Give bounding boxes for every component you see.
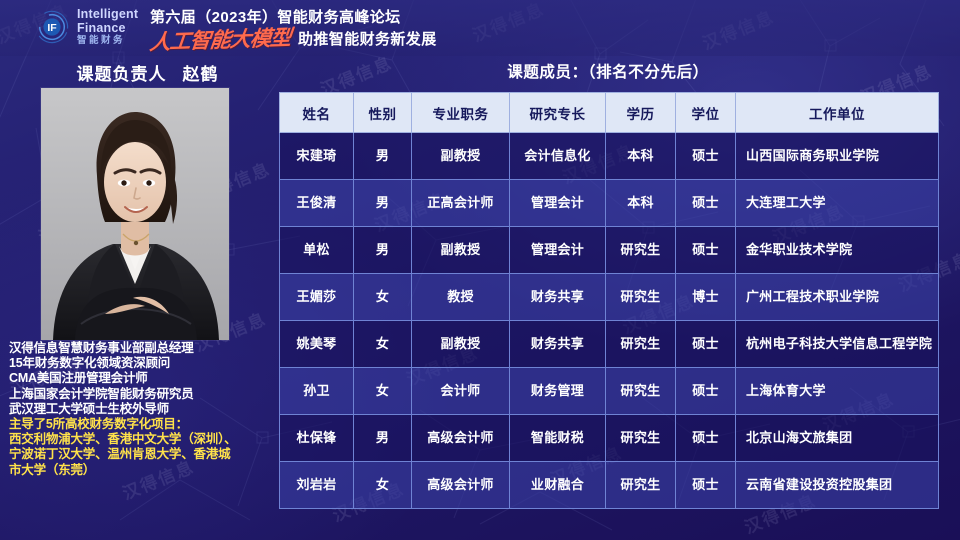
table-cell: 男: [354, 180, 412, 227]
table-cell: 管理会计: [510, 227, 606, 274]
table-cell: 孙卫: [280, 368, 354, 415]
bio-line: 宁波诺丁汉大学、温州肯恩大学、香港城: [9, 447, 261, 462]
table-cell: 上海体育大学: [736, 368, 939, 415]
leader-label: 课题负责人: [77, 65, 167, 84]
brand-logo: IF Intelligent Finance 智能财务: [34, 8, 138, 46]
table-row: 孙卫女会计师财务管理研究生硕士上海体育大学: [280, 368, 939, 415]
table-cell: 杜保锋: [280, 415, 354, 462]
table-cell: 财务管理: [510, 368, 606, 415]
column-header-3: 研究专长: [510, 93, 606, 133]
header-bar: IF Intelligent Finance 智能财务 第六届（2023年）智能…: [0, 0, 960, 56]
table-cell: 正高会计师: [412, 180, 510, 227]
members-table: 姓名性别专业职务研究专长学历学位工作单位 宋建琦男副教授会计信息化本科硕士山西国…: [279, 92, 939, 509]
table-cell: 王媚莎: [280, 274, 354, 321]
bio-line: CMA美国注册管理会计师: [9, 371, 261, 386]
table-header-row: 姓名性别专业职务研究专长学历学位工作单位: [280, 93, 939, 133]
table-cell: 研究生: [606, 368, 676, 415]
table-cell: 硕士: [676, 462, 736, 509]
table-cell: 女: [354, 462, 412, 509]
table-cell: 广州工程技术职业学院: [736, 274, 939, 321]
brand-name-line2: Finance: [77, 22, 138, 35]
table-cell: 会计师: [412, 368, 510, 415]
bio-line: 15年财务数字化领域资深顾问: [9, 356, 261, 371]
table-cell: 女: [354, 321, 412, 368]
column-header-0: 姓名: [280, 93, 354, 133]
svg-text:IF: IF: [47, 22, 57, 34]
column-header-6: 工作单位: [736, 93, 939, 133]
table-cell: 北京山海文旅集团: [736, 415, 939, 462]
table-cell: 智能财税: [510, 415, 606, 462]
table-cell: 副教授: [412, 227, 510, 274]
brand-logo-text: Intelligent Finance 智能财务: [77, 8, 138, 46]
bio-line: 武汉理工大学硕士生校外导师: [9, 402, 261, 417]
table-row: 单松男副教授管理会计研究生硕士金华职业技术学院: [280, 227, 939, 274]
table-cell: 硕士: [676, 180, 736, 227]
table-cell: 山西国际商务职业学院: [736, 133, 939, 180]
table-body: 宋建琦男副教授会计信息化本科硕士山西国际商务职业学院王俊清男正高会计师管理会计本…: [280, 133, 939, 509]
table-cell: 研究生: [606, 321, 676, 368]
table-cell: 研究生: [606, 274, 676, 321]
leader-photo: [41, 88, 229, 340]
table-cell: 高级会计师: [412, 462, 510, 509]
table-cell: 大连理工大学: [736, 180, 939, 227]
bio-line: 上海国家会计学院智能财务研究员: [9, 387, 261, 402]
event-title-line2: 助推智能财务新发展: [298, 30, 437, 50]
table-cell: 男: [354, 133, 412, 180]
event-title: 第六届（2023年）智能财务高峰论坛 人工智能大模型 助推智能财务新发展: [150, 8, 570, 50]
if-circle-icon: IF: [34, 9, 70, 45]
table-cell: 研究生: [606, 462, 676, 509]
table-cell: 女: [354, 274, 412, 321]
table-cell: 杭州电子科技大学信息工程学院: [736, 321, 939, 368]
table-cell: 姚美琴: [280, 321, 354, 368]
table-cell: 本科: [606, 133, 676, 180]
table-cell: 王俊清: [280, 180, 354, 227]
column-header-2: 专业职务: [412, 93, 510, 133]
table-cell: 硕士: [676, 415, 736, 462]
table-cell: 博士: [676, 274, 736, 321]
members-table-wrap: 姓名性别专业职务研究专长学历学位工作单位 宋建琦男副教授会计信息化本科硕士山西国…: [279, 92, 938, 509]
table-cell: 副教授: [412, 133, 510, 180]
column-header-5: 学位: [676, 93, 736, 133]
table-row: 刘岩岩女高级会计师业财融合研究生硕士云南省建设投资控股集团: [280, 462, 939, 509]
table-cell: 男: [354, 415, 412, 462]
leader-heading: 课题负责人赵鹤: [40, 60, 255, 85]
table-cell: 业财融合: [510, 462, 606, 509]
table-cell: 男: [354, 227, 412, 274]
event-title-line1: 第六届（2023年）智能财务高峰论坛: [150, 8, 570, 28]
brand-name-line1: Intelligent: [77, 8, 138, 21]
bio-line: 汉得信息智慧财务事业部副总经理: [9, 341, 261, 356]
table-cell: 研究生: [606, 415, 676, 462]
table-cell: 会计信息化: [510, 133, 606, 180]
table-cell: 金华职业技术学院: [736, 227, 939, 274]
bio-line: 主导了5所高校财务数字化项目：: [9, 417, 261, 432]
table-row: 姚美琴女副教授财务共享研究生硕士杭州电子科技大学信息工程学院: [280, 321, 939, 368]
leader-bio: 汉得信息智慧财务事业部副总经理15年财务数字化领域资深顾问CMA美国注册管理会计…: [9, 341, 261, 478]
brand-name-cn: 智能财务: [77, 36, 138, 46]
table-cell: 女: [354, 368, 412, 415]
table-cell: 教授: [412, 274, 510, 321]
bio-line: 市大学（东莞）: [9, 463, 261, 478]
table-cell: 硕士: [676, 227, 736, 274]
table-cell: 财务共享: [510, 274, 606, 321]
table-cell: 财务共享: [510, 321, 606, 368]
table-row: 王媚莎女教授财务共享研究生博士广州工程技术职业学院: [280, 274, 939, 321]
table-cell: 本科: [606, 180, 676, 227]
event-title-calligraphy: 人工智能大模型: [149, 28, 292, 53]
slide-root: 汉得信息汉得信息汉得信息汉得信息汉得信息汉得信息汉得信息汉得信息汉得信息汉得信息…: [0, 0, 960, 540]
table-cell: 宋建琦: [280, 133, 354, 180]
table-cell: 云南省建设投资控股集团: [736, 462, 939, 509]
column-header-4: 学历: [606, 93, 676, 133]
table-cell: 硕士: [676, 133, 736, 180]
table-cell: 副教授: [412, 321, 510, 368]
table-cell: 研究生: [606, 227, 676, 274]
members-heading: 课题成员：（排名不分先后）: [278, 60, 938, 82]
table-row: 王俊清男正高会计师管理会计本科硕士大连理工大学: [280, 180, 939, 227]
table-cell: 高级会计师: [412, 415, 510, 462]
table-cell: 硕士: [676, 321, 736, 368]
table-cell: 刘岩岩: [280, 462, 354, 509]
table-row: 宋建琦男副教授会计信息化本科硕士山西国际商务职业学院: [280, 133, 939, 180]
bio-line: 西交利物浦大学、香港中文大学（深圳）、: [9, 432, 261, 447]
table-row: 杜保锋男高级会计师智能财税研究生硕士北京山海文旅集团: [280, 415, 939, 462]
event-title-line2-row: 人工智能大模型 助推智能财务新发展: [150, 30, 570, 50]
table-cell: 管理会计: [510, 180, 606, 227]
table-cell: 单松: [280, 227, 354, 274]
leader-name: 赵鹤: [183, 65, 219, 84]
table-cell: 硕士: [676, 368, 736, 415]
column-header-1: 性别: [354, 93, 412, 133]
